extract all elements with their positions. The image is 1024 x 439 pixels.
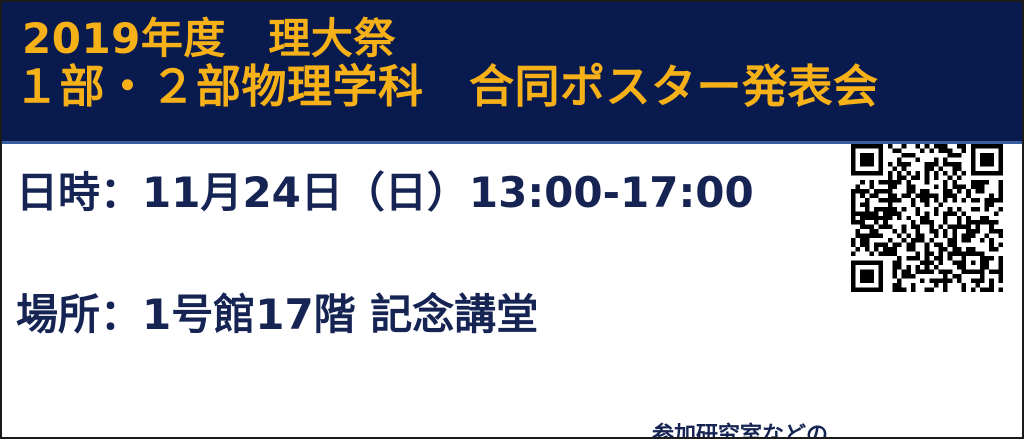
qr-caption: 参加研究室などの 詳細はこちら ➔ xyxy=(652,362,828,439)
qr-code[interactable] xyxy=(851,144,1003,292)
event-poster: 2019年度 理大祭 １部・２部物理学科 合同ポスター発表会 日時：11月24日… xyxy=(0,0,1024,439)
poster-title-line-1: 2019年度 理大祭 xyxy=(22,18,396,60)
poster-header-band: 2019年度 理大祭 １部・２部物理学科 合同ポスター発表会 xyxy=(2,2,1024,144)
event-place-text: 場所：1号館17階 記念講堂 xyxy=(16,294,538,336)
event-datetime-text: 日時：11月24日（日）13:00-17:00 xyxy=(16,172,754,214)
qr-caption-line-1: 参加研究室などの xyxy=(652,421,828,439)
qr-code-image[interactable] xyxy=(851,144,1003,292)
poster-title-line-2: １部・２部物理学科 合同ポスター発表会 xyxy=(14,64,879,109)
